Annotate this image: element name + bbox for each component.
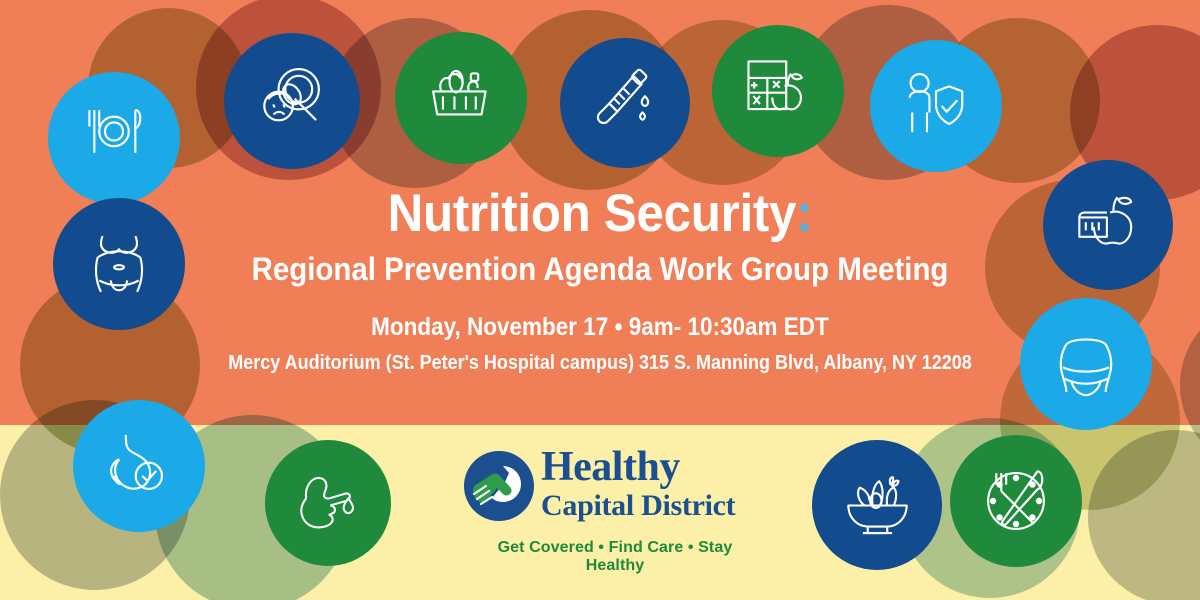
page-title: Nutrition Security:	[42, 186, 1158, 241]
person-shield-icon	[870, 40, 1002, 172]
salad-bowl-icon	[812, 440, 942, 570]
grocery-basket-icon	[395, 32, 527, 164]
logo-tagline: Get Covered • Find Care • Stay Healthy	[475, 539, 755, 575]
logo-line-2: Capital District	[541, 490, 755, 522]
place-setting-icon	[48, 72, 180, 204]
event-text-block: Nutrition Security: Regional Prevention …	[0, 186, 1200, 375]
title-main: Nutrition Security	[388, 184, 797, 243]
title-colon: :	[796, 184, 812, 243]
logo-wordmark: Healthy Capital District	[541, 446, 755, 522]
meal-timing-clock-icon	[950, 435, 1082, 567]
event-venue: Mercy Auditorium (St. Peter's Hospital c…	[60, 352, 1140, 375]
logo-line-1: Healthy	[541, 446, 755, 488]
event-datetime: Monday, November 17 • 9am- 10:30am EDT	[60, 313, 1140, 342]
handshake-logo-icon	[463, 450, 535, 522]
hungry-child-icon	[224, 33, 360, 169]
stomach-check-icon	[73, 400, 205, 532]
organization-logo: Healthy Capital District Get Covered • F…	[455, 446, 755, 566]
event-subtitle: Regional Prevention Agenda Work Group Me…	[48, 250, 1152, 288]
water-bottle-icon	[560, 38, 690, 168]
nutrition-calculator-icon	[712, 25, 844, 157]
event-flyer: Nutrition Security: Regional Prevention …	[0, 0, 1200, 600]
blood-glucose-drop-icon	[265, 440, 391, 566]
